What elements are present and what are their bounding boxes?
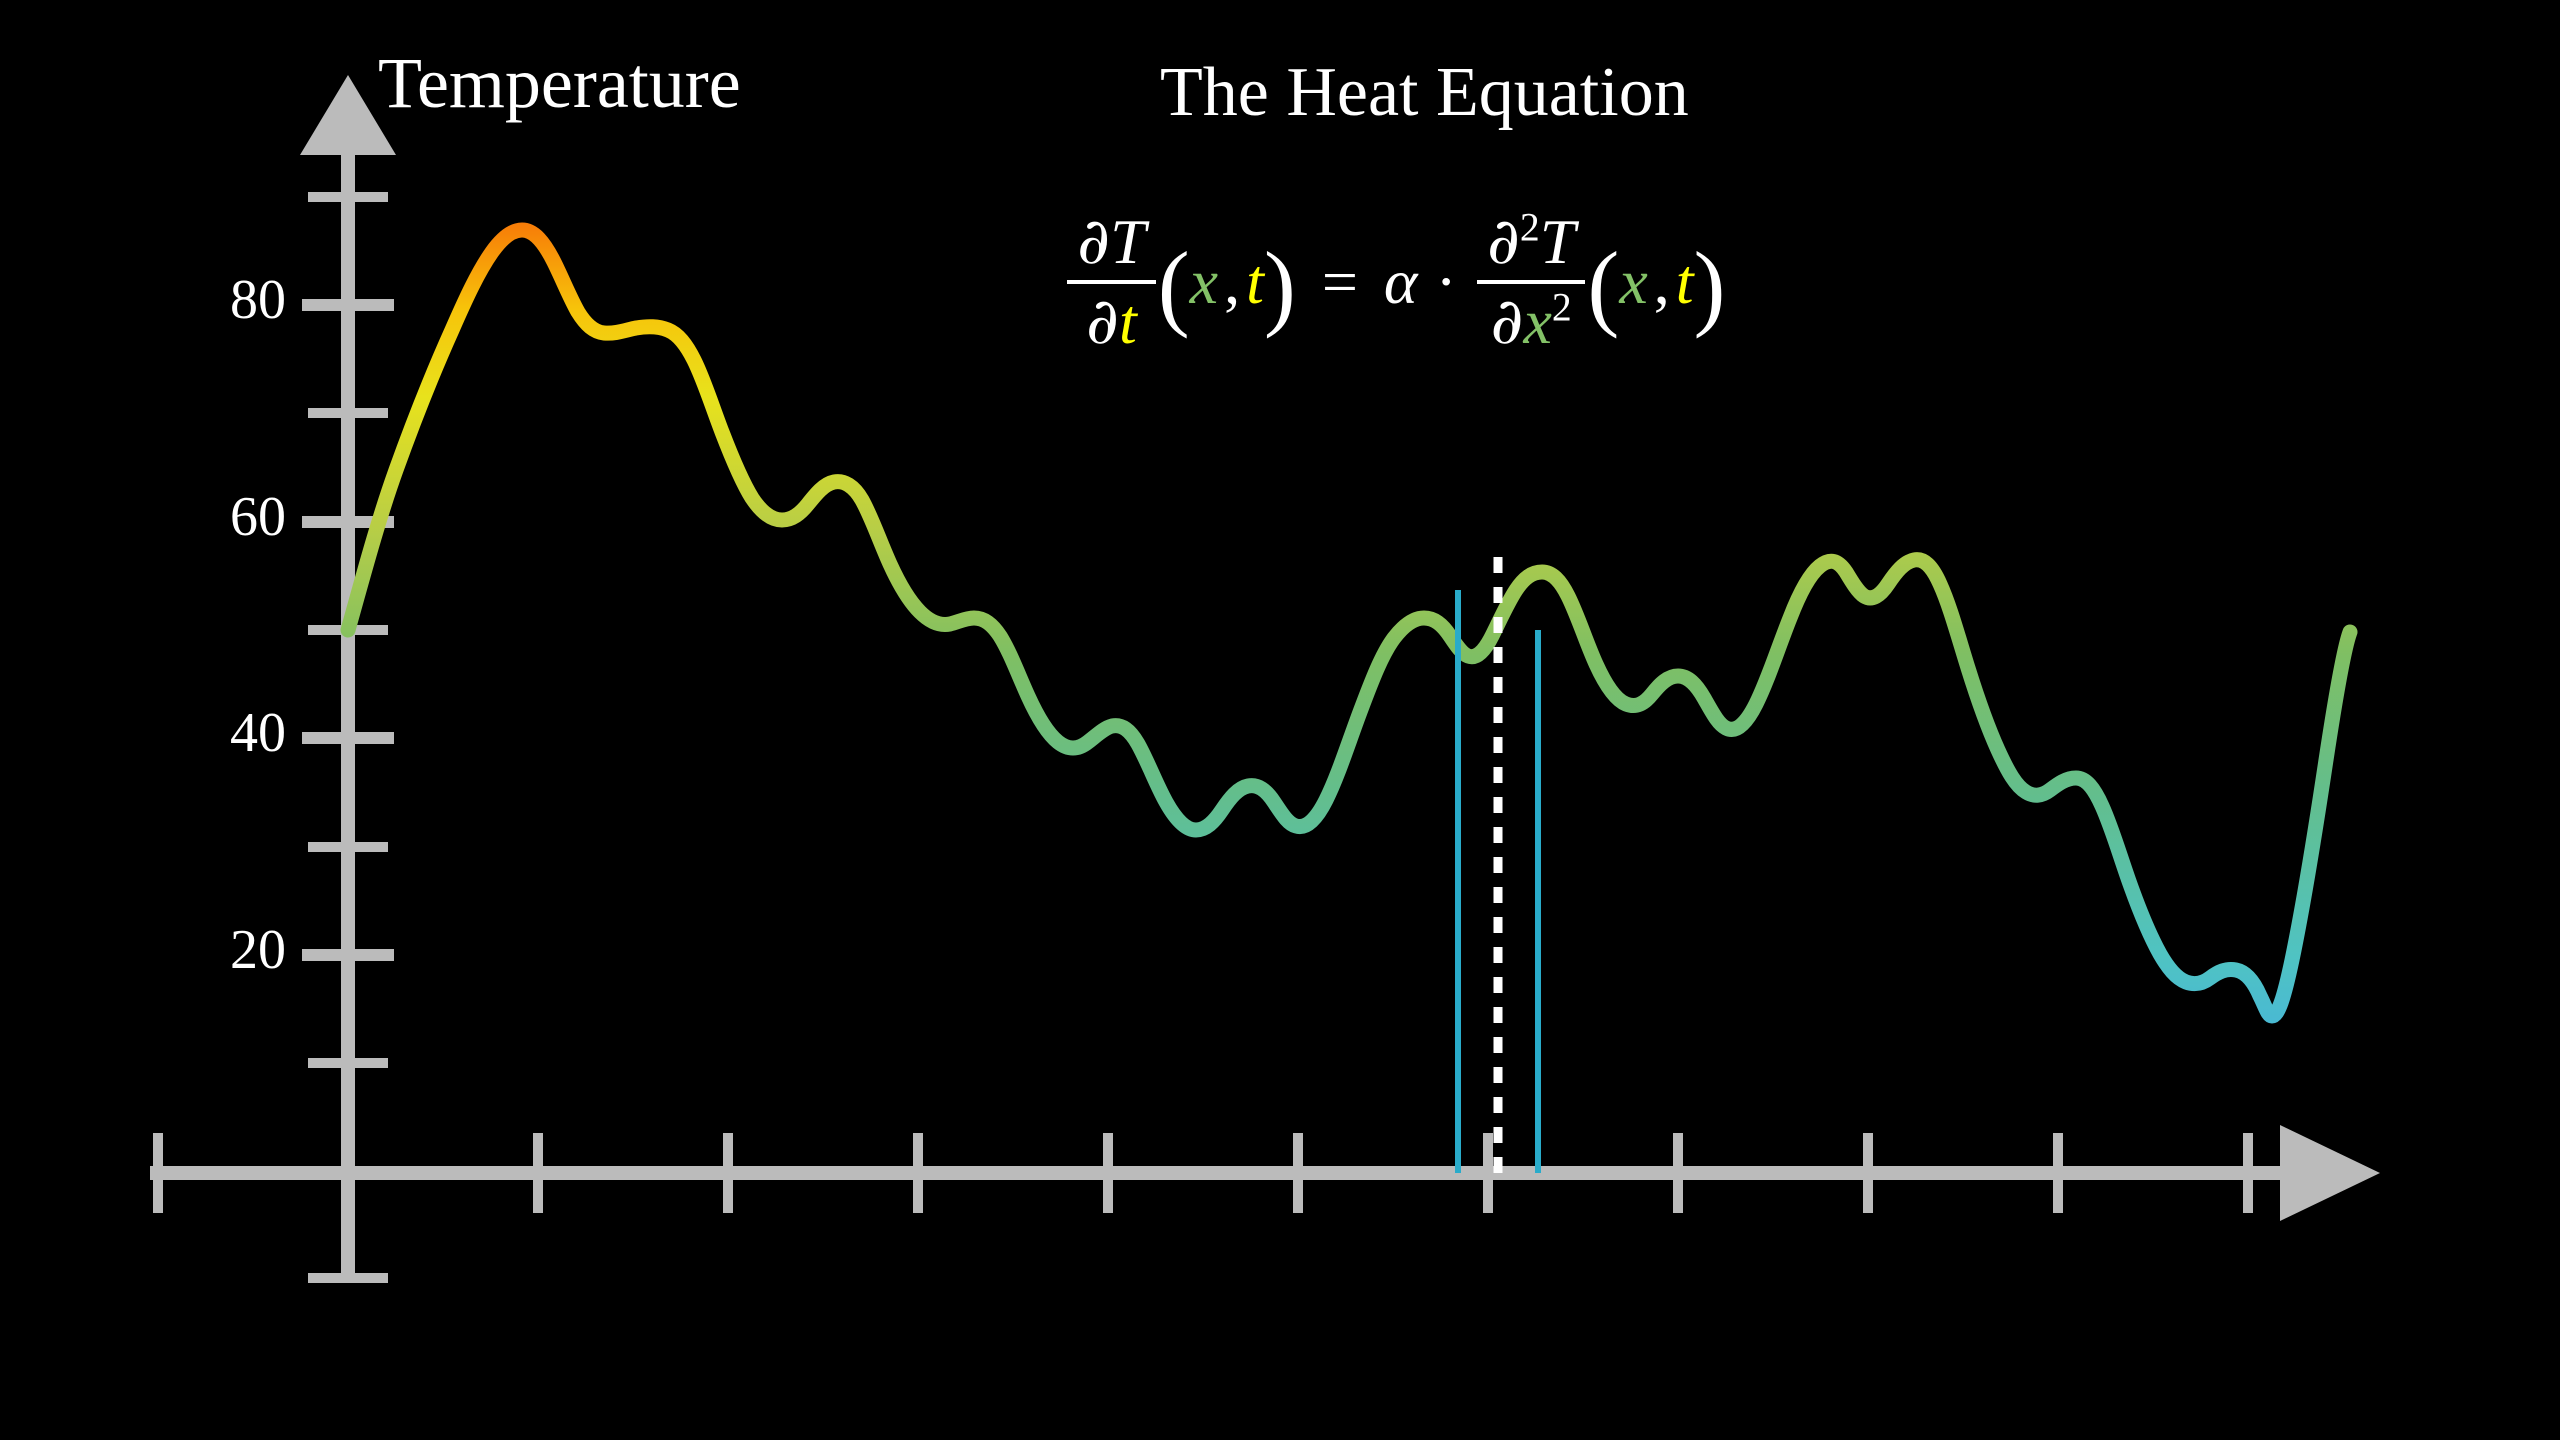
T-symbol-lhs-num: T: [1110, 206, 1146, 277]
T-symbol-rhs-num: T: [1540, 206, 1576, 277]
cdot-symbol: ·: [1418, 250, 1475, 314]
partial-symbol-rhs-den: ∂: [1490, 285, 1523, 359]
t-variable-lhs-arg: t: [1246, 250, 1264, 314]
lhs-arguments: (x,t): [1158, 248, 1296, 315]
exponent-rhs-den: 2: [1552, 286, 1572, 330]
lhs-denominator: ∂t: [1076, 288, 1147, 356]
equals-sign: =: [1296, 250, 1384, 314]
close-paren-lhs: ): [1264, 252, 1296, 319]
y-tick-label-40: 40: [198, 705, 286, 761]
comma-rhs: ,: [1648, 250, 1676, 314]
x-variable-lhs-arg: x: [1190, 250, 1218, 314]
rhs-arguments: (x,t): [1587, 248, 1725, 315]
t-variable-rhs-arg: t: [1676, 250, 1694, 314]
heat-equation-formula: ∂T ∂t (x,t) = α · ∂2T ∂x2 (x,t): [1065, 208, 1725, 356]
comma-lhs: ,: [1218, 250, 1246, 314]
partial-symbol-lhs-num: ∂: [1077, 205, 1110, 279]
close-paren-rhs: ): [1694, 252, 1726, 319]
t-variable-lhs-den: t: [1119, 286, 1137, 357]
y-axis-title: Temperature: [378, 46, 741, 122]
fraction-bar-rhs: [1477, 280, 1586, 284]
x-axis: [150, 1125, 2380, 1221]
y-axis: [300, 75, 396, 1278]
x-variable-rhs-arg: x: [1619, 250, 1647, 314]
x-axis-arrowhead: [2280, 1125, 2380, 1221]
lhs-numerator: ∂T: [1067, 208, 1156, 276]
rhs-denominator: ∂x2: [1480, 288, 1581, 356]
open-paren-rhs: (: [1587, 252, 1619, 319]
heat-equation-scene: 80 60 40 20 Temperature The Heat Equatio…: [0, 0, 2560, 1440]
rhs-fraction: ∂2T ∂x2: [1477, 208, 1586, 356]
rhs-numerator: ∂2T: [1477, 208, 1586, 276]
partial-symbol-rhs-num: ∂: [1487, 205, 1520, 279]
x-variable-rhs-den: x: [1524, 286, 1552, 357]
partial-symbol-lhs-den: ∂: [1086, 285, 1119, 359]
exponent-rhs-num: 2: [1520, 206, 1540, 250]
alpha-symbol: α: [1384, 250, 1418, 314]
lhs-fraction: ∂T ∂t: [1067, 208, 1156, 356]
page-title: The Heat Equation: [1160, 56, 1689, 130]
open-paren-lhs: (: [1158, 252, 1190, 319]
y-tick-label-60: 60: [198, 489, 286, 545]
y-tick-label-20: 20: [198, 922, 286, 978]
marker-lines-group: [1458, 548, 1538, 1173]
y-tick-label-80: 80: [198, 272, 286, 328]
fraction-bar-lhs: [1067, 280, 1156, 284]
